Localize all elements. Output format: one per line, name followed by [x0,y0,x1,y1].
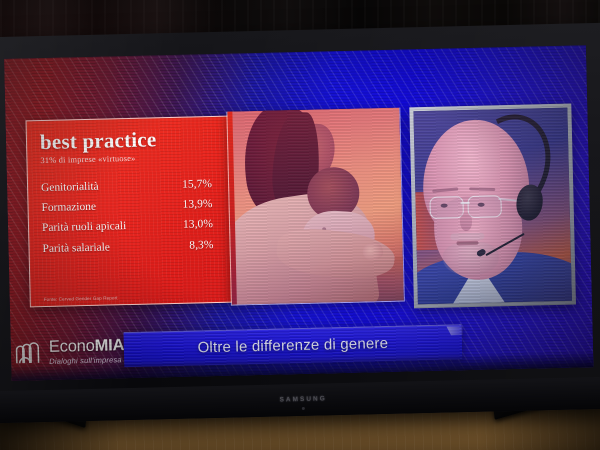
screen-vignette [4,45,593,381]
tv-screen: best practice 31% di imprese «virtuose» … [4,45,593,381]
ir-receiver-icon [302,407,305,410]
television: best practice 31% di imprese «virtuose» … [0,23,600,424]
screenshot-root: best practice 31% di imprese «virtuose» … [0,0,600,450]
tv-brand-logo: SAMSUNG [279,395,326,403]
